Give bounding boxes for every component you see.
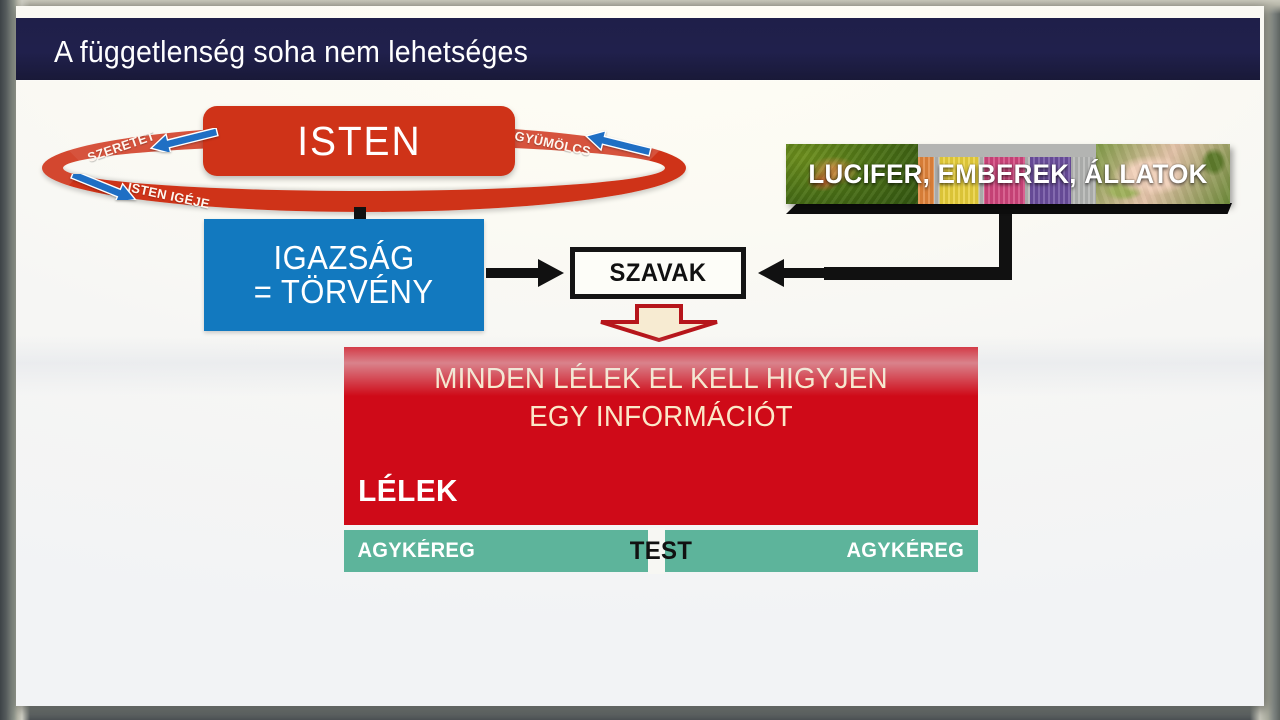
beings-banner[interactable]: LUCIFER, EMBEREK, ÁLLATOK [786,144,1230,204]
soul-heading: MINDEN LÉLEK EL KELL HIGYJEN EGY INFORMÁ… [357,360,966,437]
banner-3d-lip [786,203,1232,214]
slide-canvas: A függetlenség soha nem lehetséges ISTEN… [16,6,1264,706]
arrow-right-blue-icon [68,174,140,200]
isten-label: ISTEN [297,118,421,165]
banner-label: LUCIFER, EMBEREK, ÁLLATOK [795,144,1221,204]
body-bar[interactable]: AGYKÉREG TEST AGYKÉREG [344,530,978,572]
arrow-right-black-icon [486,258,566,293]
words-box[interactable]: SZAVAK [570,247,746,299]
arrow-left-black-icon [758,258,828,293]
arrow-down-cream-icon [599,304,719,347]
arrow-left-blue-icon [148,128,220,152]
slide-title-bar: A függetlenség soha nem lehetséges [16,18,1260,80]
soul-heading-line-1: MINDEN LÉLEK EL KELL HIGYJEN [357,360,966,398]
truth-box[interactable]: IGAZSÁG = TÖRVÉNY [204,219,484,331]
soul-box[interactable]: MINDEN LÉLEK EL KELL HIGYJEN EGY INFORMÁ… [344,347,978,525]
words-label: SZAVAK [610,259,707,288]
page-title: A függetlenség soha nem lehetséges [54,34,528,70]
isten-box[interactable]: ISTEN [203,106,515,176]
soul-heading-line-2: EGY INFORMÁCIÓT [357,398,966,436]
truth-line-1: IGAZSÁG [273,241,414,275]
cycle-connector-node [354,207,366,219]
soul-label: LÉLEK [358,473,458,509]
arrow-left-blue-icon-2 [583,131,653,157]
desktop-frame: A függetlenség soha nem lehetséges ISTEN… [0,0,1280,720]
truth-line-2: = TÖRVÉNY [254,275,434,309]
banner-connector-horizontal [824,267,1012,280]
cortex-label-right: AGYKÉREG [847,539,965,563]
